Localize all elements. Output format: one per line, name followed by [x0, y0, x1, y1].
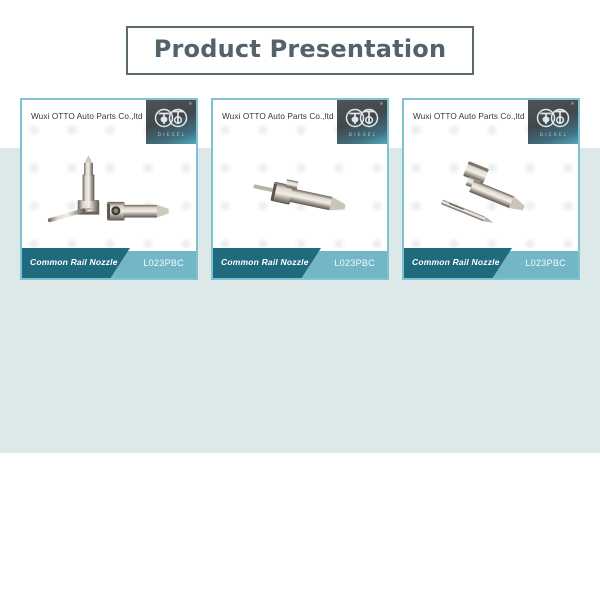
product-card[interactable]: Wuxi OTTO Auto Parts Co.,ltd ® DIESEL — [402, 98, 580, 280]
part-number: L023PBC — [334, 258, 375, 268]
logo-subtext: DIESEL — [337, 134, 387, 138]
otto-diesel-logo-icon: ® DIESEL — [528, 100, 578, 144]
product-photo — [22, 144, 196, 252]
product-card[interactable]: Wuxi OTTO Auto Parts Co.,ltd ® DIESEL — [20, 98, 198, 280]
trademark-icon: ® — [380, 102, 383, 106]
product-photo — [404, 144, 578, 252]
company-name: Wuxi OTTO Auto Parts Co.,ltd — [31, 112, 143, 121]
slide-root: Product Presentation Wuxi OTTO Auto Part… — [0, 0, 600, 600]
card-header: Wuxi OTTO Auto Parts Co.,ltd ® DIESEL — [404, 100, 578, 144]
card-footer: Common Rail Nozzle L023PBC — [22, 248, 196, 278]
otto-diesel-logo-icon: ® DIESEL — [337, 100, 387, 144]
logo-subtext: DIESEL — [146, 134, 196, 138]
company-name: Wuxi OTTO Auto Parts Co.,ltd — [222, 112, 334, 121]
product-photo — [213, 144, 387, 252]
logo-subtext: DIESEL — [528, 134, 578, 138]
card-footer: Common Rail Nozzle L023PBC — [213, 248, 387, 278]
product-category: Common Rail Nozzle — [412, 257, 500, 267]
part-number: L023PBC — [525, 258, 566, 268]
card-footer: Common Rail Nozzle L023PBC — [404, 248, 578, 278]
title-area: Product Presentation — [0, 26, 600, 75]
product-card[interactable]: Wuxi OTTO Auto Parts Co.,ltd ® DIESEL — [211, 98, 389, 280]
product-category: Common Rail Nozzle — [30, 257, 118, 267]
trademark-icon: ® — [189, 102, 192, 106]
part-number: L023PBC — [143, 258, 184, 268]
card-header: Wuxi OTTO Auto Parts Co.,ltd ® DIESEL — [22, 100, 196, 144]
otto-diesel-logo-icon: ® DIESEL — [146, 100, 196, 144]
page-title: Product Presentation — [154, 35, 447, 63]
product-card-row: Wuxi OTTO Auto Parts Co.,ltd ® DIESEL — [0, 98, 600, 288]
trademark-icon: ® — [571, 102, 574, 106]
card-header: Wuxi OTTO Auto Parts Co.,ltd ® DIESEL — [213, 100, 387, 144]
product-category: Common Rail Nozzle — [221, 257, 309, 267]
company-name: Wuxi OTTO Auto Parts Co.,ltd — [413, 112, 525, 121]
page-title-box: Product Presentation — [126, 26, 475, 75]
